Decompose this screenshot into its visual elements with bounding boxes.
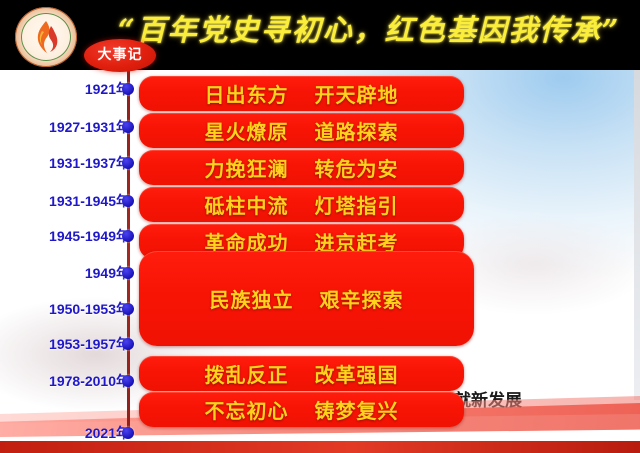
milestone-box-merged[interactable]: 民族独立艰辛探索	[139, 251, 474, 346]
milestone-right: 开天辟地	[315, 83, 399, 107]
timeline-dot[interactable]	[122, 375, 134, 387]
timeline-dot[interactable]	[122, 83, 134, 95]
milestone-left: 力挽狂澜	[205, 157, 289, 181]
page-title: “百年党史寻初心，红色基因我传承”	[118, 6, 628, 54]
timeline-label: 1945-1949年	[49, 226, 130, 246]
milestone-box[interactable]: 拨乱反正改革强国	[139, 356, 464, 391]
timeline-row: 1978-2010年	[0, 371, 130, 391]
milestone-right: 铸梦复兴	[315, 399, 399, 423]
timeline-dot[interactable]	[122, 121, 134, 133]
timeline-dot[interactable]	[122, 230, 134, 242]
milestone-box[interactable]: 力挽狂澜转危为安	[139, 150, 464, 185]
emblem-flame-icon	[31, 19, 61, 55]
milestone-text: 日出东方开天辟地	[205, 79, 399, 108]
milestone-box[interactable]: 砥柱中流灯塔指引	[139, 187, 464, 222]
milestone-box[interactable]: 不忘初心铸梦复兴	[139, 392, 464, 427]
milestone-right: 道路探索	[315, 120, 399, 144]
timeline-label: 1931-1937年	[49, 153, 130, 173]
milestone-right: 改革强国	[315, 363, 399, 387]
milestone-right: 转危为安	[315, 157, 399, 181]
milestone-right: 灯塔指引	[315, 194, 399, 218]
timeline-row: 2021年	[0, 423, 130, 443]
timeline-label: 1931-1945年	[49, 191, 130, 211]
timeline-dot[interactable]	[122, 303, 134, 315]
timeline-dot[interactable]	[122, 195, 134, 207]
timeline-row: 1950-1953年	[0, 299, 130, 319]
milestone-box[interactable]: 星火燎原道路探索	[139, 113, 464, 148]
timeline-row: 1931-1945年	[0, 191, 130, 211]
timeline-row: 1953-1957年	[0, 334, 130, 354]
milestone-text: 不忘初心铸梦复兴	[205, 395, 399, 424]
milestone-left: 拨乱反正	[205, 363, 289, 387]
milestone-text: 砥柱中流灯塔指引	[205, 190, 399, 219]
timeline-row: 1921年	[0, 79, 130, 99]
milestone-text: 力挽狂澜转危为安	[205, 153, 399, 182]
timeline-row: 1931-1937年	[0, 153, 130, 173]
milestone-text: 民族独立艰辛探索	[210, 284, 404, 313]
milestone-left: 民族独立	[210, 288, 294, 312]
right-edge-strip	[634, 70, 640, 400]
milestone-left: 砥柱中流	[205, 194, 289, 218]
badge-label: 大事记	[84, 39, 156, 72]
timeline-dot[interactable]	[122, 427, 134, 439]
timeline-dot[interactable]	[122, 157, 134, 169]
timeline-dot[interactable]	[122, 267, 134, 279]
milestone-box[interactable]: 日出东方开天辟地	[139, 76, 464, 111]
timeline-label: 1927-1931年	[49, 117, 130, 137]
milestone-right: 艰辛探索	[320, 288, 404, 312]
school-emblem-icon	[9, 6, 85, 68]
milestone-left: 星火燎原	[205, 120, 289, 144]
timeline-dot[interactable]	[122, 338, 134, 350]
milestone-left: 不忘初心	[205, 399, 289, 423]
milestone-left: 日出东方	[205, 83, 289, 107]
status-badge: 大事记	[84, 39, 156, 72]
milestone-text: 星火燎原道路探索	[205, 116, 399, 145]
timeline-label: 1950-1953年	[49, 299, 130, 319]
timeline-label: 1953-1957年	[49, 334, 130, 354]
slide-canvas: 就新发展 “百年党史寻初心，红色基因我传承” 大事记 1921年 1927-19…	[0, 0, 640, 453]
timeline-row: 1949年	[0, 263, 130, 283]
timeline-row: 1927-1931年	[0, 117, 130, 137]
timeline-label: 1978-2010年	[49, 371, 130, 391]
timeline-row: 1945-1949年	[0, 226, 130, 246]
milestone-text: 拨乱反正改革强国	[205, 359, 399, 388]
